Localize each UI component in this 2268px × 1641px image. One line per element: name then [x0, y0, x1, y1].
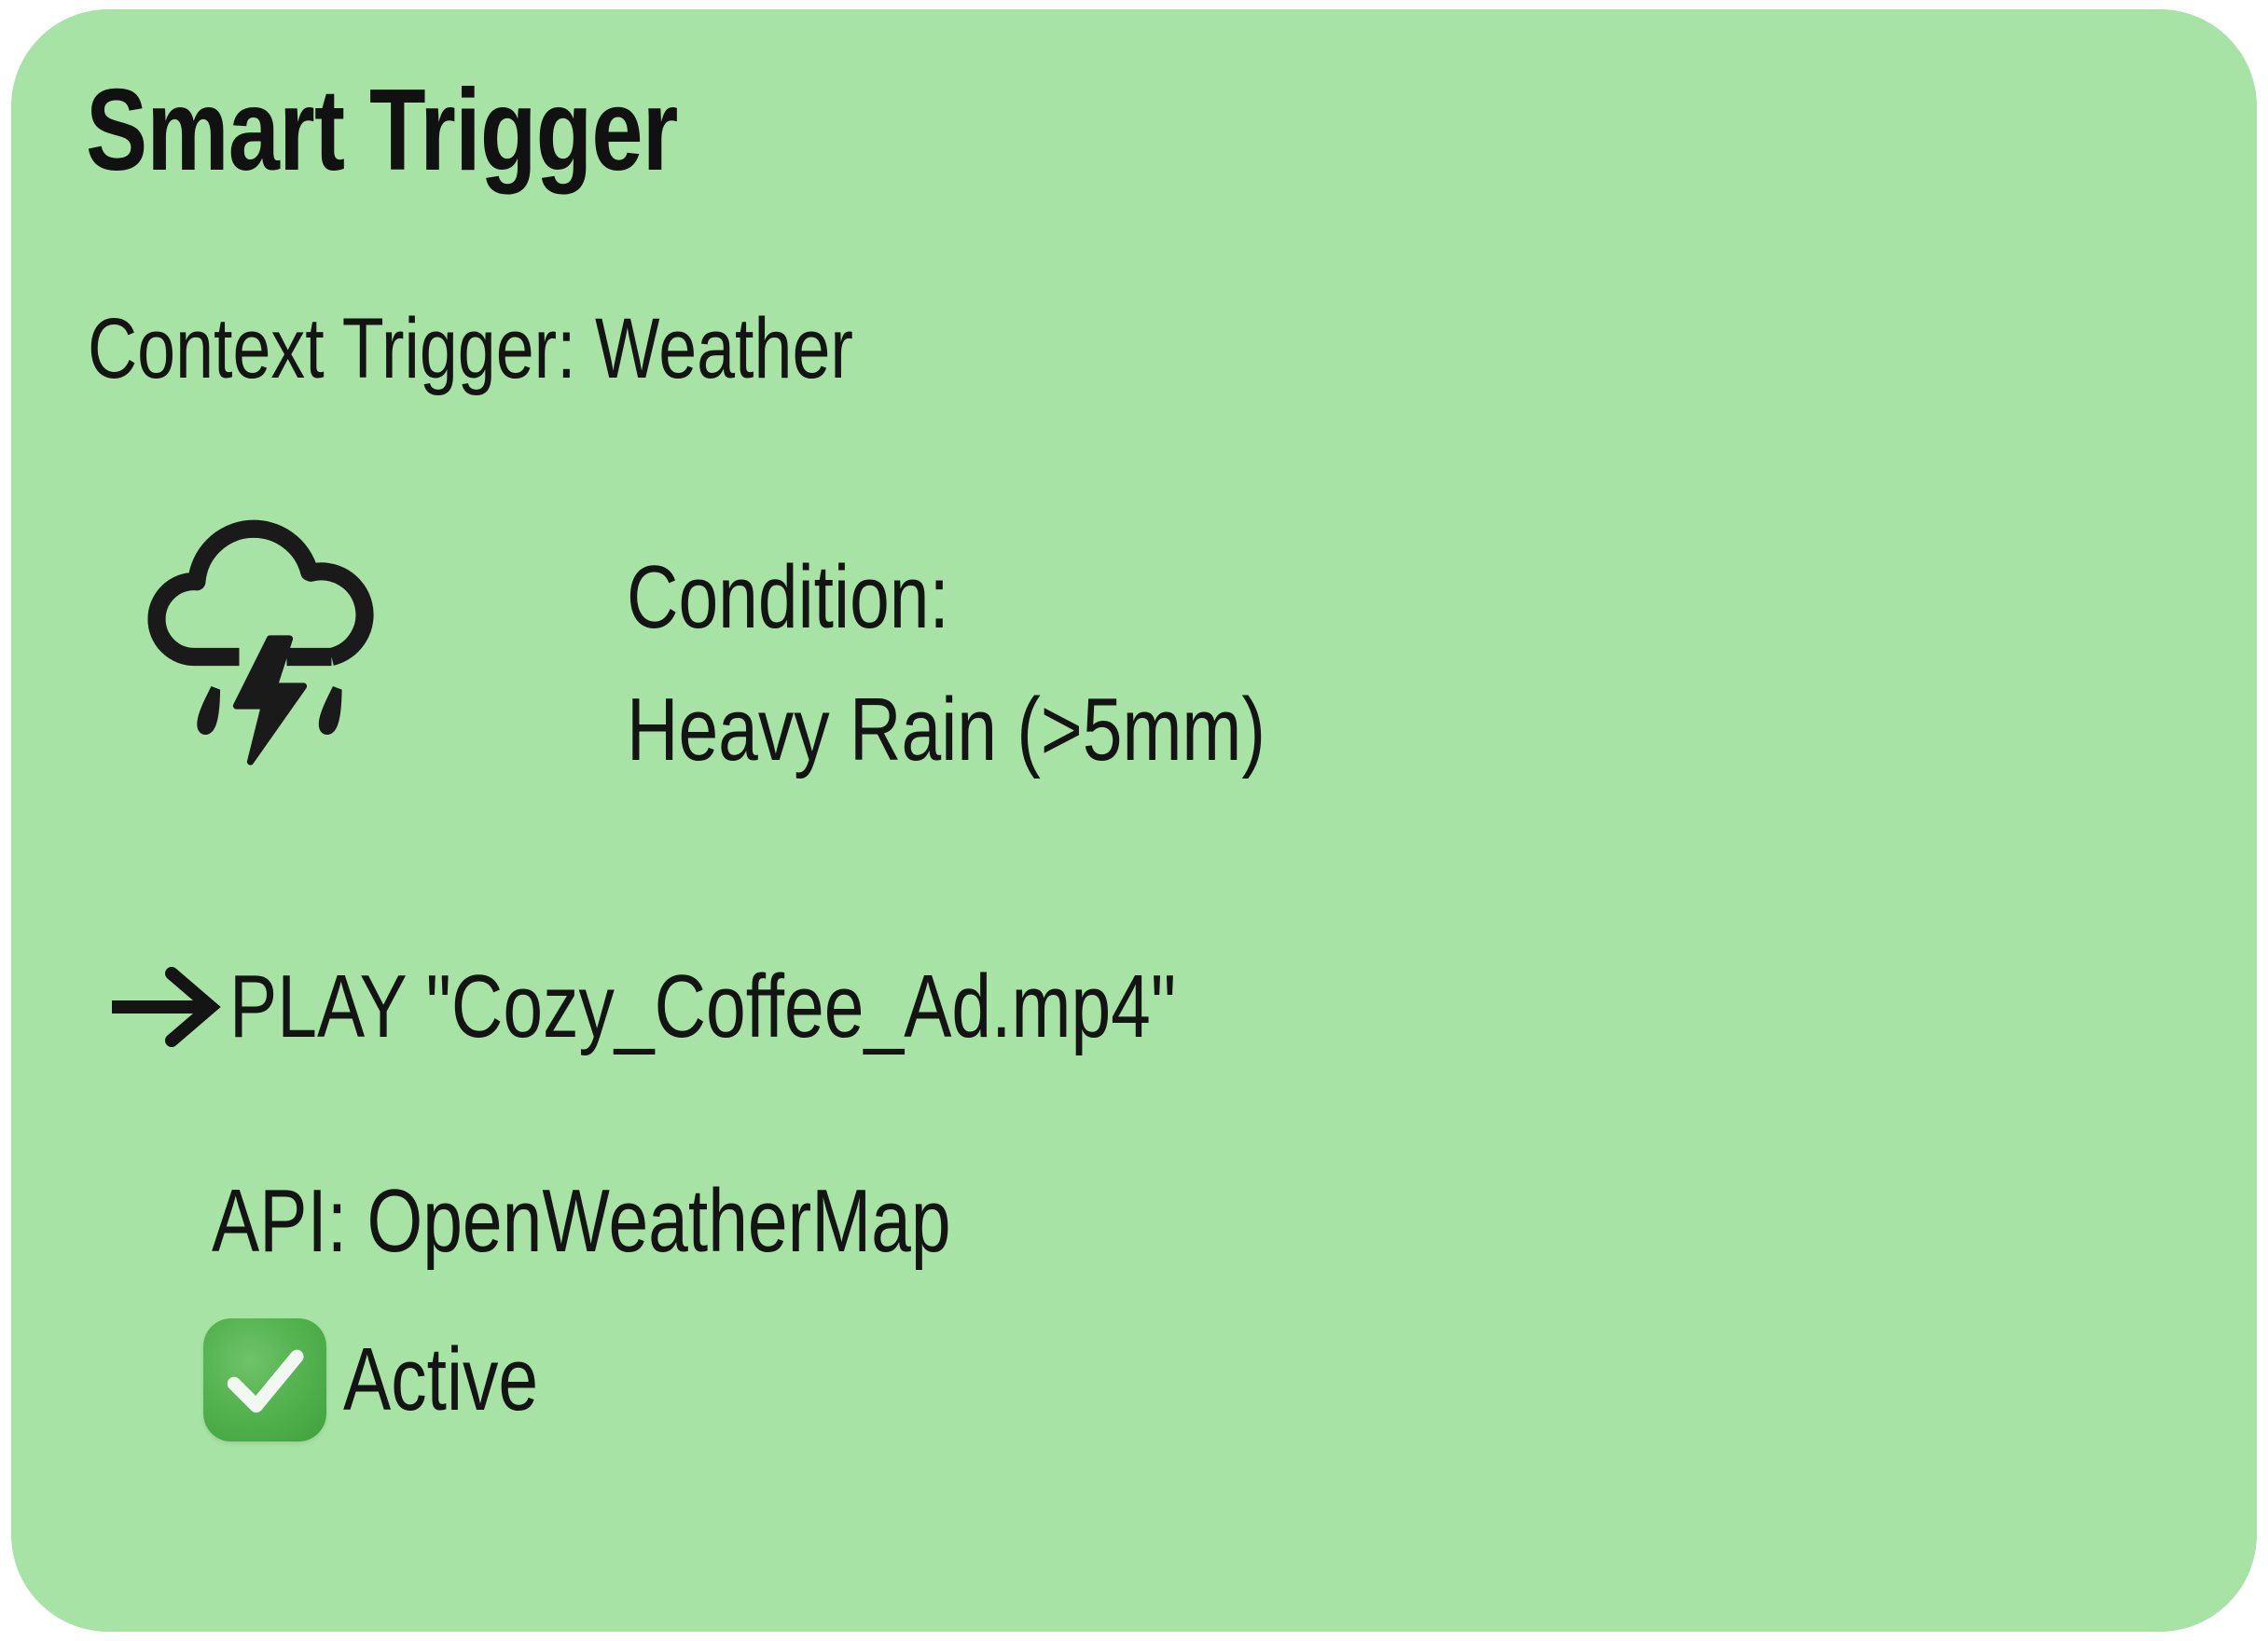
status-badge: Active [343, 1335, 538, 1425]
condition-label: Condition: [627, 531, 1265, 664]
action-command-text: PLAY "Cozy_Coffee_Ad.mp4" [229, 962, 1176, 1052]
arrow-right-icon [104, 962, 224, 1052]
card-subtitle: Context Trigger: Weather [88, 306, 853, 392]
thunderstorm-icon [123, 496, 403, 776]
page-title: Smart Trigger [86, 73, 678, 188]
action-row: PLAY "Cozy_Coffee_Ad.mp4" [104, 962, 1413, 1052]
status-row: Active [203, 1318, 587, 1441]
condition-value: Heavy Rain (>5mm) [627, 664, 1265, 796]
api-source-text: API: OpenWeatherMap [212, 1177, 951, 1266]
check-mark-button-icon [203, 1318, 326, 1441]
condition-block: Condition: Heavy Rain (>5mm) [627, 531, 1425, 796]
smart-trigger-card: Smart Trigger Context Trigger: Weather C… [11, 9, 2257, 1632]
